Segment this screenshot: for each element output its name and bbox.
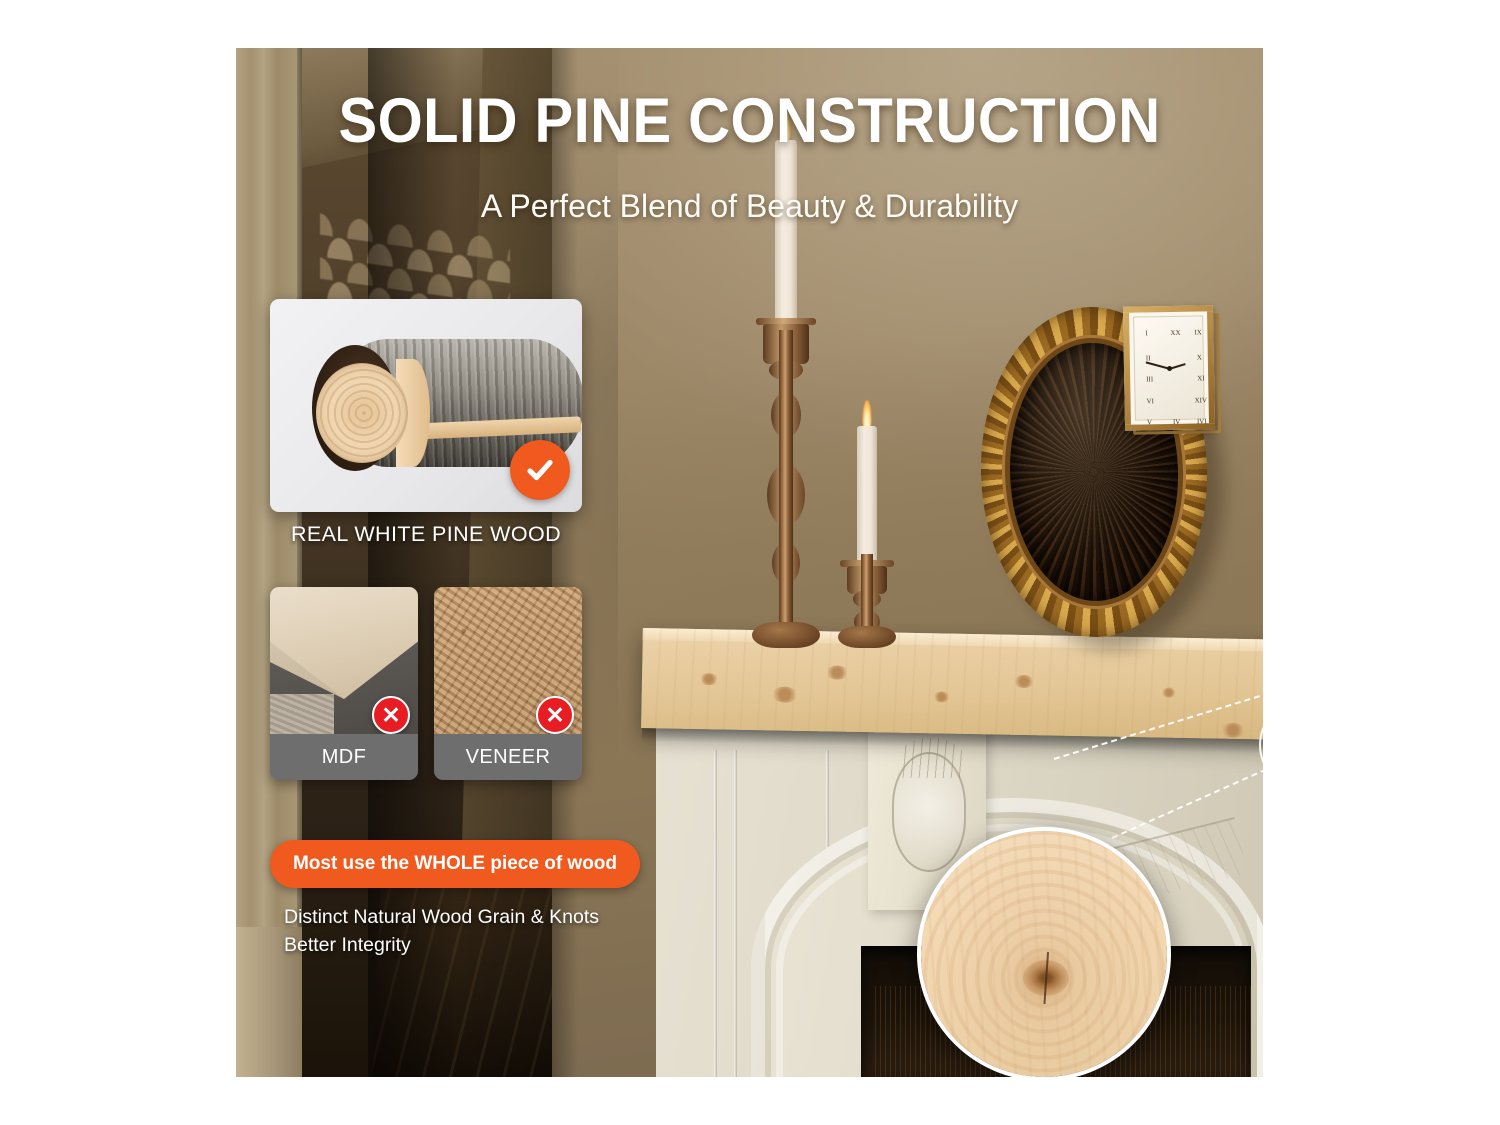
real-pine-photo-card: [270, 299, 582, 512]
x-icon: ✕: [372, 696, 410, 734]
clock-numeral: X: [1197, 353, 1202, 361]
feature-bullets: Distinct Natural Wood Grain & Knots Bett…: [284, 903, 684, 960]
clock-numeral: IV: [1173, 418, 1181, 426]
clock-numeral: IX: [1194, 328, 1202, 336]
real-pine-caption: REAL WHITE PINE WOOD: [270, 522, 582, 547]
product-lifestyle-image: I XX IX II X III XI VI XIV V IV IVI: [236, 48, 1263, 1077]
mdf-label: MDF: [270, 734, 418, 780]
pine-grain-texture: [917, 827, 1171, 1077]
surround-panel-line: [714, 750, 717, 1077]
mantel-knot: [1221, 723, 1245, 738]
surround-panel-line: [734, 750, 737, 1077]
clock-face: I XX IX II X III XI VI XIV V IV IVI: [1133, 315, 1205, 420]
bullet-line: Distinct Natural Wood Grain & Knots: [284, 903, 684, 931]
page-subtitle: A Perfect Blend of Beauty & Durability: [236, 188, 1263, 225]
check-icon: [510, 440, 570, 500]
mdf-comparison-card: ✕ MDF: [270, 587, 418, 780]
clock-numeral: VI: [1147, 397, 1155, 405]
clock-minute-hand: [1146, 362, 1170, 370]
candlestick-stem: [779, 330, 793, 640]
clock-numeral: IVI: [1197, 417, 1207, 425]
mantel-knot: [772, 686, 798, 702]
veneer-label: VENEER: [434, 734, 582, 780]
veneer-comparison-card: ✕ VENEER: [434, 587, 582, 780]
roman-numeral-table-clock: I XX IX II X III XI VI XIV V IV IVI: [1123, 305, 1215, 431]
clock-numeral: V: [1147, 418, 1152, 426]
clock-numeral: XI: [1197, 374, 1205, 382]
x-icon: ✕: [536, 696, 574, 734]
whole-piece-badge: Most use the WHOLE piece of wood: [270, 840, 640, 888]
wood-knot: [1023, 960, 1069, 996]
log-growth-rings: [316, 363, 408, 463]
mantel-knot: [1162, 688, 1176, 698]
mdf-floor: [270, 694, 334, 734]
candle: [775, 140, 797, 324]
short-bronze-candlestick: [834, 400, 900, 648]
clock-frame: I XX IX II X III XI VI XIV V IV IVI: [1123, 305, 1215, 431]
mantel-knot: [826, 665, 848, 679]
candlestick-base: [752, 622, 820, 648]
mantel-knot: [700, 673, 718, 685]
candle: [857, 426, 877, 566]
clock-numeral: I: [1145, 329, 1147, 337]
page-title: SOLID PINE CONSTRUCTION: [277, 90, 1222, 153]
mantel-knot: [1014, 675, 1034, 688]
mantel-knot: [934, 691, 950, 702]
mdf-board-upper: [270, 587, 418, 699]
clock-numeral: XIV: [1195, 396, 1208, 404]
bullet-line: Better Integrity: [284, 931, 684, 959]
wood-grain-magnifier: [917, 827, 1171, 1077]
candlestick-base: [838, 626, 896, 648]
clock-numeral: III: [1146, 375, 1153, 383]
clock-numeral: XX: [1170, 329, 1180, 337]
clock-center-pin: [1166, 365, 1171, 370]
